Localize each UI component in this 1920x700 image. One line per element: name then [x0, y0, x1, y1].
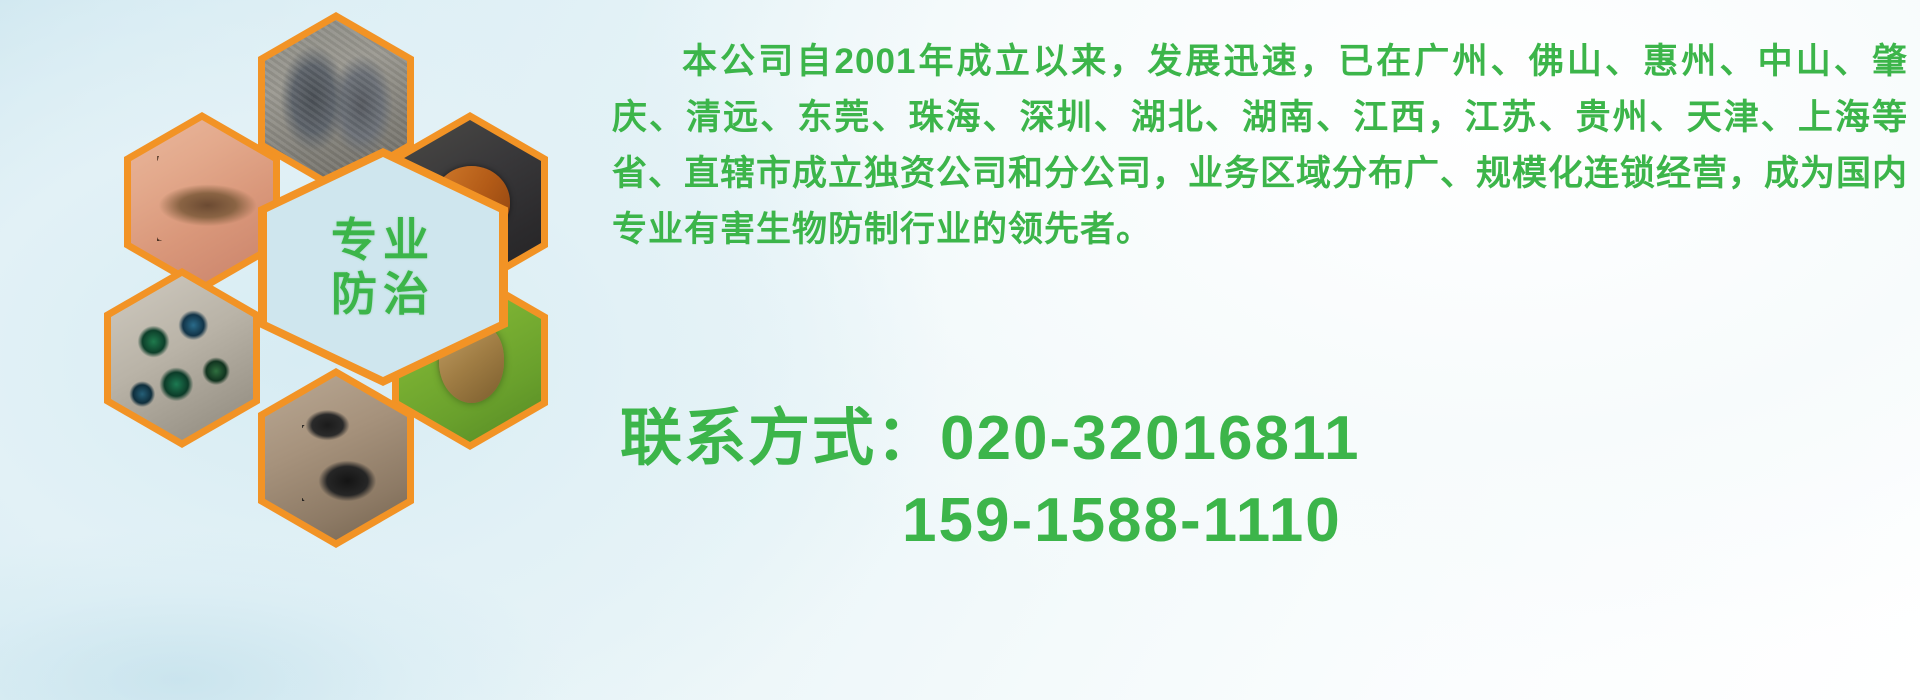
contact-primary-line: 联系方式：020-32016811: [620, 398, 1920, 480]
logo-slogan-line1: 专业: [331, 213, 435, 267]
contact-block: 联系方式：020-32016811 159-1588-1110: [620, 398, 1920, 562]
flies-photo-icon: [111, 276, 253, 440]
contact-phone-secondary[interactable]: 159-1588-1110: [902, 486, 1342, 555]
hex-cell-flies[interactable]: [104, 268, 260, 448]
company-description-paragraph: 本公司自2001年成立以来，发展迅速，已在广州、佛山、惠州、中山、肇庆、清远、东…: [612, 34, 1908, 258]
hex-inner-ant: [265, 376, 407, 540]
contact-label: 联系方式：: [620, 404, 940, 473]
contact-phone-primary[interactable]: 020-32016811: [940, 404, 1361, 473]
mosquito-photo-icon: [131, 120, 273, 284]
hex-inner-flies: [111, 276, 253, 440]
promo-banner: 专业 防治 本公司自2001年成立以来，发展迅速，已在广州、佛山、惠州、中山、肇…: [0, 0, 1920, 700]
ant-photo-icon: [265, 376, 407, 540]
logo-slogan-line2: 防治: [331, 267, 435, 321]
company-description: 本公司自2001年成立以来，发展迅速，已在广州、佛山、惠州、中山、肇庆、清远、东…: [612, 34, 1908, 258]
contact-secondary-line: 159-1588-1110: [620, 480, 1920, 562]
logo-slogan: 专业 防治: [331, 213, 435, 322]
hex-inner-logo: 专业 防治: [267, 157, 499, 377]
hex-cell-mosquito[interactable]: [124, 112, 280, 292]
hex-inner-mosquito: [131, 120, 273, 284]
hex-cell-ant[interactable]: [258, 368, 414, 548]
honeycomb-photo-collage: 专业 防治: [88, 8, 588, 568]
